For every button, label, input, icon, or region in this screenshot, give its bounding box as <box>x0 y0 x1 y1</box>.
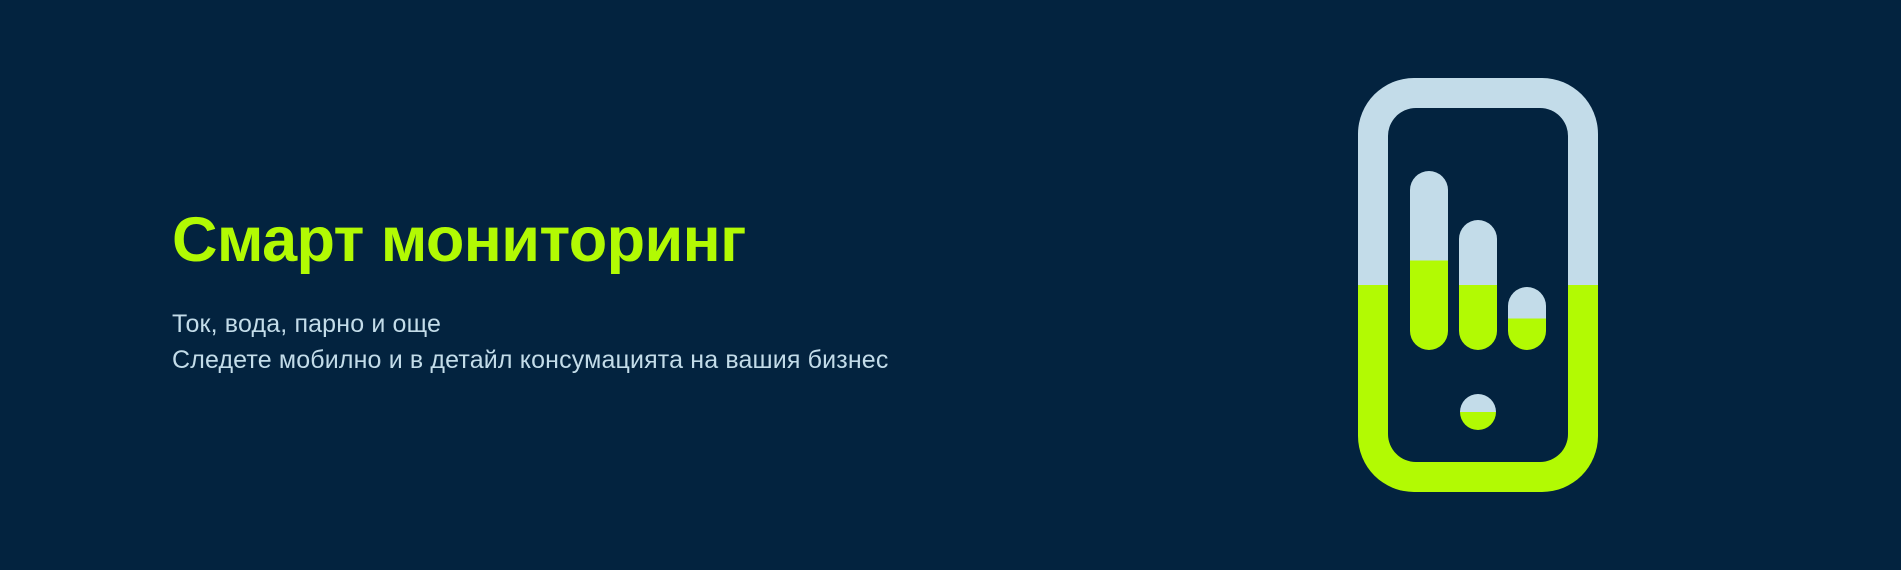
subtitle-line-1: Ток, вода, парно и още <box>172 306 1172 343</box>
page-title: Смарт мониторинг <box>172 208 1172 274</box>
promo-banner: Смарт мониторинг Ток, вода, парно и още … <box>0 0 1901 570</box>
subtitle-line-2: Следете мобилно и в детайл консумацията … <box>172 342 1172 379</box>
bar-3 <box>1508 287 1546 350</box>
banner-text-block: Смарт мониторинг Ток, вода, парно и още … <box>172 208 1172 379</box>
smartphone-bar-chart-icon <box>1352 62 1604 508</box>
bar-2 <box>1459 220 1497 350</box>
bar-1 <box>1410 171 1448 350</box>
banner-subtitle: Ток, вода, парно и още Следете мобилно и… <box>172 274 1172 379</box>
home-indicator-dot <box>1460 394 1496 430</box>
